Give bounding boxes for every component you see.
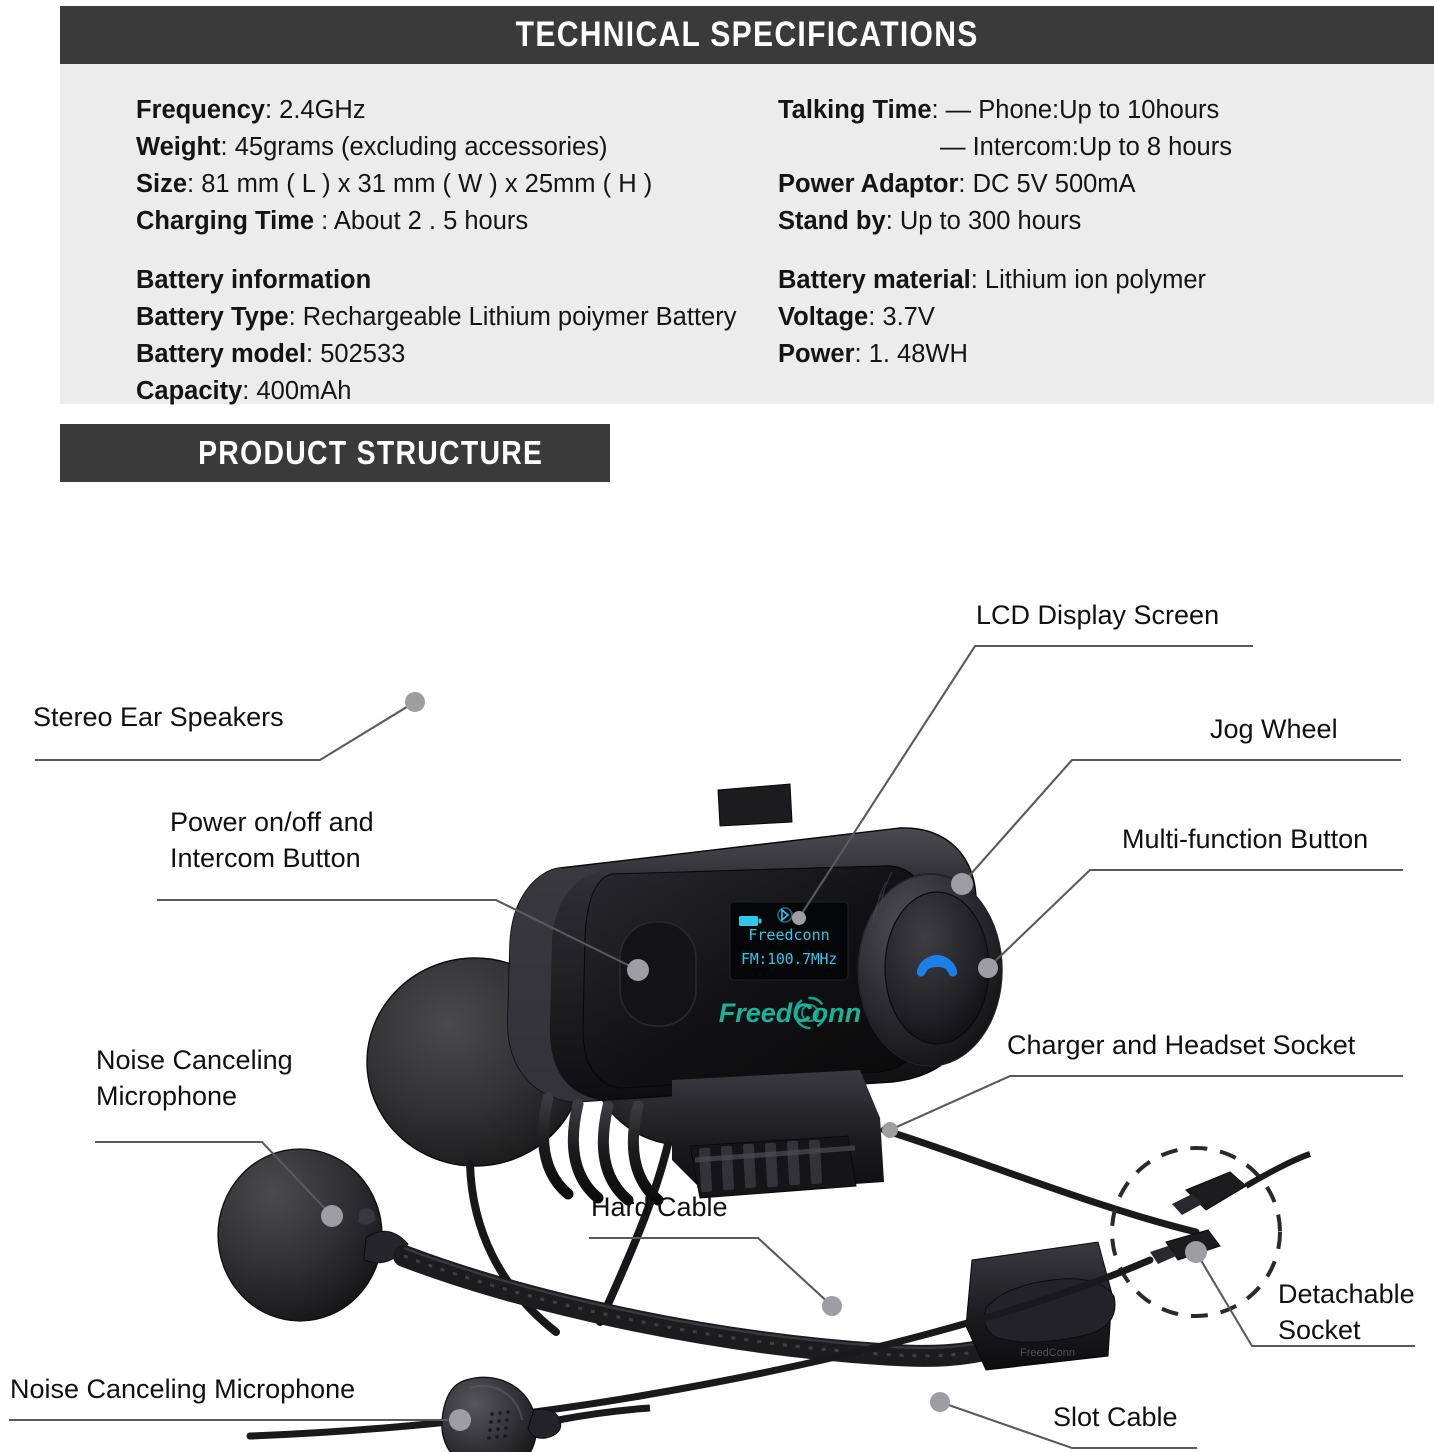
technical-specifications-banner: TECHNICAL SPECIFICATIONS	[60, 6, 1434, 64]
spec-key: Stand by	[778, 207, 886, 235]
spec-gap	[136, 240, 796, 262]
callout-hard-cable: Hard Cable	[591, 1190, 728, 1225]
lcd-line-2: FM:100.7MHz	[741, 950, 837, 968]
spec-value: : About 2 . 5 hours	[314, 207, 528, 235]
callout-stereo-ear-speakers: Stereo Ear Speakers	[33, 700, 284, 735]
spec-value: — Intercom:Up to 8 hours	[940, 133, 1232, 161]
callout-multi-function-button: Multi-function Button	[1122, 822, 1368, 857]
spec-line: Battery model: 502533	[136, 336, 796, 373]
spec-key: Battery information	[136, 266, 371, 294]
spec-key: Frequency	[136, 96, 265, 124]
callout-power-intercom-button-line2: Intercom Button	[170, 840, 374, 876]
callout-noise-canceling-microphone-inline: Noise Canceling Microphone	[10, 1372, 355, 1407]
spec-line: Battery Type: Rechargeable Lithium poiym…	[136, 299, 796, 336]
spec-column-left: Frequency: 2.4GHzWeight: 45grams (exclud…	[136, 92, 796, 410]
spec-line: Power: 1. 48WH	[778, 336, 1398, 373]
spec-value: : Up to 300 hours	[886, 207, 1082, 235]
spec-key: Power Adaptor	[778, 170, 958, 198]
spec-line: Talking Time: — Phone:Up to 10hours	[778, 92, 1398, 129]
spec-key: Charging Time	[136, 207, 314, 235]
callout-charger-headset-socket: Charger and Headset Socket	[1007, 1028, 1355, 1063]
noise-canceling-microphone-graphic	[218, 1149, 408, 1321]
spec-key: Power	[778, 340, 855, 368]
spec-value: : 2.4GHz	[265, 96, 366, 124]
spec-value: : — Phone:Up to 10hours	[932, 96, 1220, 124]
callout-power-intercom-button-line1: Power on/off and	[170, 804, 374, 840]
spec-value: : DC 5V 500mA	[958, 170, 1135, 198]
lcd-display-screen-graphic: Freedconn FM:100.7MHz	[730, 902, 848, 980]
spec-key: Battery Type	[136, 303, 289, 331]
spec-value: : Lithium ion polymer	[971, 266, 1206, 294]
detachable-socket-plug-lower	[1150, 1230, 1220, 1264]
callout-jog-wheel: Jog Wheel	[1210, 712, 1338, 747]
technical-specifications-title: TECHNICAL SPECIFICATIONS	[516, 15, 979, 55]
spec-line: — Intercom:Up to 8 hours	[778, 129, 1398, 166]
spec-line: Power Adaptor: DC 5V 500mA	[778, 166, 1398, 203]
spec-value: : 3.7V	[868, 303, 935, 331]
spec-line: Battery information	[136, 262, 796, 299]
leader-multi-function-button	[988, 870, 1402, 968]
callout-lcd-display-screen: LCD Display Screen	[976, 598, 1219, 633]
spec-key: Capacity	[136, 377, 242, 405]
spec-line: Charging Time : About 2 . 5 hours	[136, 203, 796, 240]
charger-cable	[884, 1130, 1196, 1232]
leader-charger-headset-socket	[890, 1076, 1402, 1130]
callout-detachable-socket: Detachable Socket	[1278, 1276, 1415, 1348]
callout-noise-canceling-microphone-boom: Noise Canceling Microphone	[96, 1042, 293, 1114]
spec-key: Battery material	[778, 266, 971, 294]
callout-slot-cable: Slot Cable	[1053, 1400, 1178, 1435]
callout-detachable-socket-line1: Detachable	[1278, 1276, 1415, 1312]
spec-line: Stand by: Up to 300 hours	[778, 203, 1398, 240]
spec-value: : 400mAh	[242, 377, 351, 405]
inline-noise-canceling-microphone-graphic	[442, 1377, 650, 1452]
callout-power-intercom-button: Power on/off and Intercom Button	[170, 804, 374, 876]
lcd-line-1: Freedconn	[748, 926, 829, 944]
spec-line: Battery material: Lithium ion polymer	[778, 262, 1398, 299]
spec-key: Voltage	[778, 303, 868, 331]
callout-noise-canceling-microphone-boom-line2: Microphone	[96, 1078, 293, 1114]
base-brand-mark: FreedConn	[1020, 1347, 1075, 1359]
spec-line: Frequency: 2.4GHz	[136, 92, 796, 129]
spec-value: : 45grams (excluding accessories)	[221, 133, 608, 161]
spec-value: : 1. 48WH	[855, 340, 968, 368]
spec-key: Weight	[136, 133, 221, 161]
spec-gap	[778, 240, 1398, 262]
spec-key: Talking Time	[778, 96, 932, 124]
spec-value: : Rechargeable Lithium poiymer Battery	[289, 303, 737, 331]
spec-line: Weight: 45grams (excluding accessories)	[136, 129, 796, 166]
spec-value: : 81 mm ( L ) x 31 mm ( W ) x 25mm ( H )	[187, 170, 652, 198]
product-structure-title: PRODUCT STRUCTURE	[198, 434, 543, 472]
svg-text:FreedConn: FreedConn	[719, 998, 862, 1028]
intercom-device-body: Freedconn FM:100.7MHz FreedConn	[508, 784, 1002, 1200]
spec-key: Size	[136, 170, 187, 198]
spec-key: Battery model	[136, 340, 306, 368]
spec-column-right: Talking Time: — Phone:Up to 10hours— Int…	[778, 92, 1398, 373]
spec-line: Capacity: 400mAh	[136, 373, 796, 410]
product-structure-diagram: Freedconn FM:100.7MHz FreedConn	[0, 470, 1434, 1452]
freedconn-logo: FreedConn	[719, 998, 862, 1028]
callout-detachable-socket-line2: Socket	[1278, 1312, 1415, 1348]
spec-line: Size: 81 mm ( L ) x 31 mm ( W ) x 25mm (…	[136, 166, 796, 203]
multi-function-button-graphic	[885, 892, 989, 1044]
slot-mount-base: FreedConn	[966, 1242, 1115, 1370]
product-spec-page: TECHNICAL SPECIFICATIONS Frequency: 2.4G…	[0, 0, 1434, 1452]
specifications-panel: Frequency: 2.4GHzWeight: 45grams (exclud…	[60, 64, 1434, 404]
spec-line: Voltage: 3.7V	[778, 299, 1398, 336]
spec-value: : 502533	[306, 340, 405, 368]
detachable-socket-plug-upper	[1172, 1154, 1310, 1215]
callout-noise-canceling-microphone-boom-line1: Noise Canceling	[96, 1042, 293, 1078]
helmet-clamp-mount	[672, 1070, 884, 1198]
